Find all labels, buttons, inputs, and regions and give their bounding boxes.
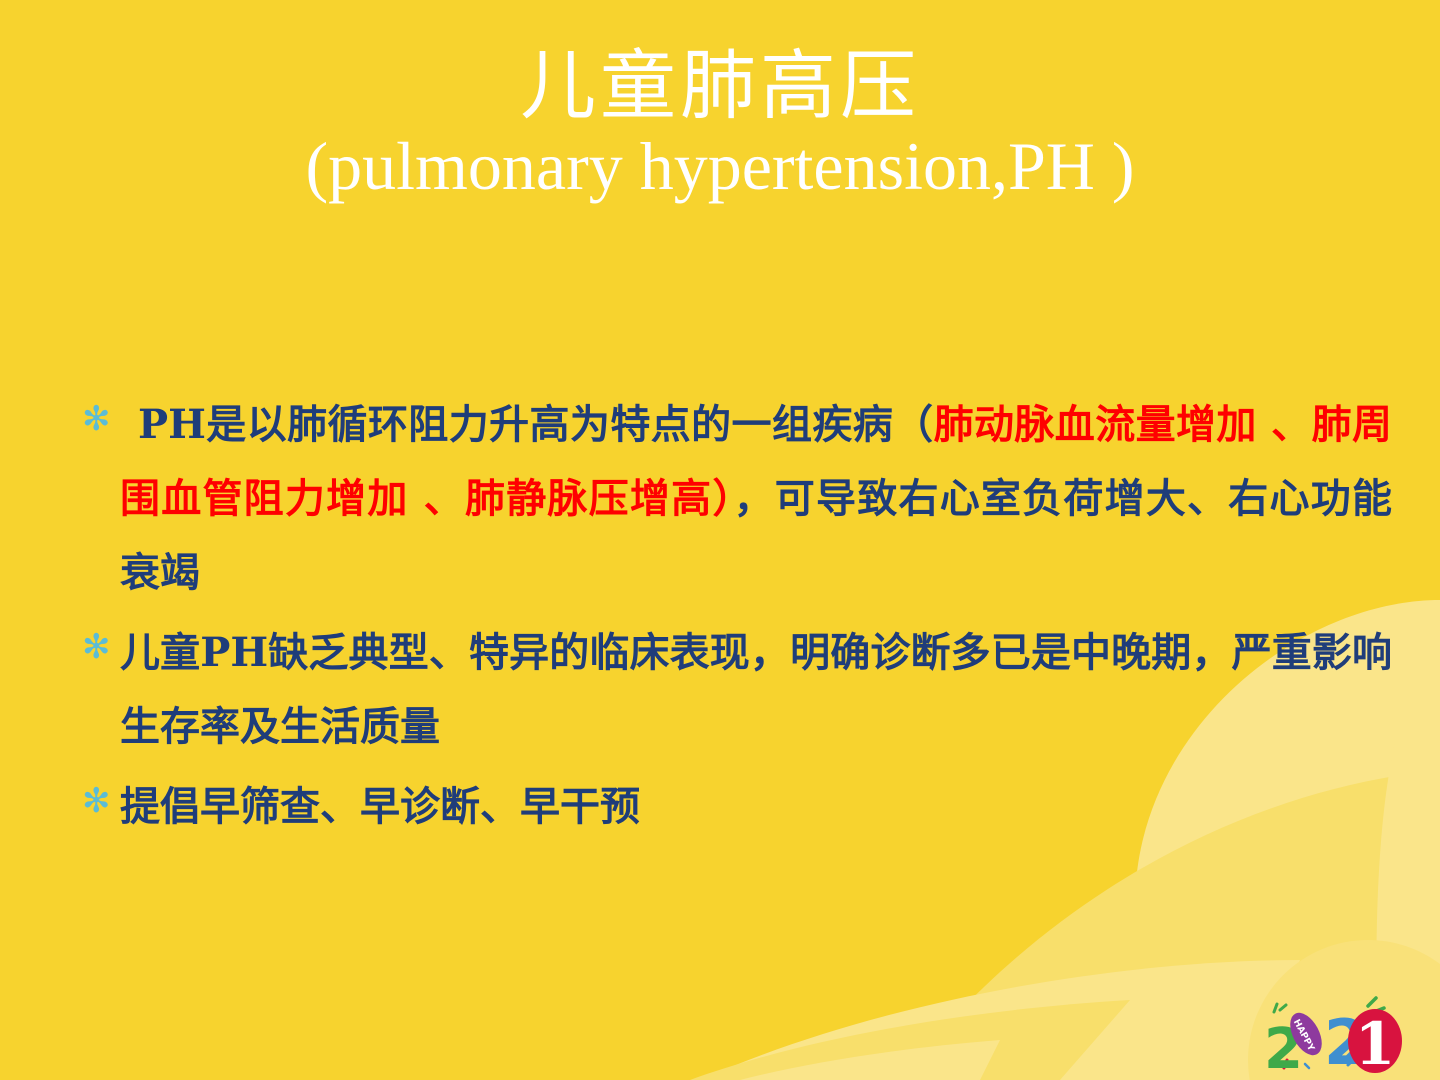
- slide-canvas: 儿童肺高压 (pulmonary hypertension,PH ) ✻ PH是…: [0, 0, 1440, 1080]
- asterisk-bullet-icon: ✻: [74, 616, 120, 678]
- logo-digit-1: 1: [1355, 1010, 1395, 1078]
- title-english: (pulmonary hypertension,PH ): [0, 126, 1440, 206]
- bullet-text-1: PH是以肺循环阻力升高为特点的一组疾病（肺动脉血流量增加 、肺周围血管阻力增加 …: [120, 388, 1392, 610]
- bullet-text-2: 儿童PH缺乏典型、特异的临床表现，明确诊断多已是中晚期，严重影响生存率及生活质量: [120, 616, 1392, 764]
- bullet-2-segment-1: 儿童PH缺乏典型、特异的临床表现，明确诊断多已是中晚期，严重影响生存率及生活质量: [120, 629, 1392, 750]
- list-item: ✻ 儿童PH缺乏典型、特异的临床表现，明确诊断多已是中晚期，严重影响生存率及生活…: [74, 616, 1392, 764]
- year-2021-logo: 2 HAPPY 2 1: [1256, 986, 1406, 1078]
- list-item: ✻ PH是以肺循环阻力升高为特点的一组疾病（肺动脉血流量增加 、肺周围血管阻力增…: [74, 388, 1392, 610]
- bullet-list: ✻ PH是以肺循环阻力升高为特点的一组疾病（肺动脉血流量增加 、肺周围血管阻力增…: [74, 388, 1392, 850]
- asterisk-bullet-icon: ✻: [74, 388, 120, 450]
- bullet-3-segment-1: 提倡早筛查、早诊断、早干预: [120, 783, 640, 830]
- bullet-text-3: 提倡早筛查、早诊断、早干预: [120, 770, 1392, 844]
- bullet-1-segment-1: PH是以肺循环阻力升高为特点的一组疾病（: [138, 401, 934, 448]
- title-chinese: 儿童肺高压: [0, 48, 1440, 126]
- decor-petal-4: [740, 1040, 1000, 1080]
- list-item: ✻ 提倡早筛查、早诊断、早干预: [74, 770, 1392, 844]
- logo-digit-1-badge: 1: [1348, 1009, 1402, 1078]
- decor-petal-2: [700, 960, 1300, 1080]
- asterisk-bullet-icon: ✻: [74, 770, 120, 832]
- slide-title: 儿童肺高压 (pulmonary hypertension,PH ): [0, 48, 1440, 207]
- decor-petal-3: [690, 1000, 1130, 1080]
